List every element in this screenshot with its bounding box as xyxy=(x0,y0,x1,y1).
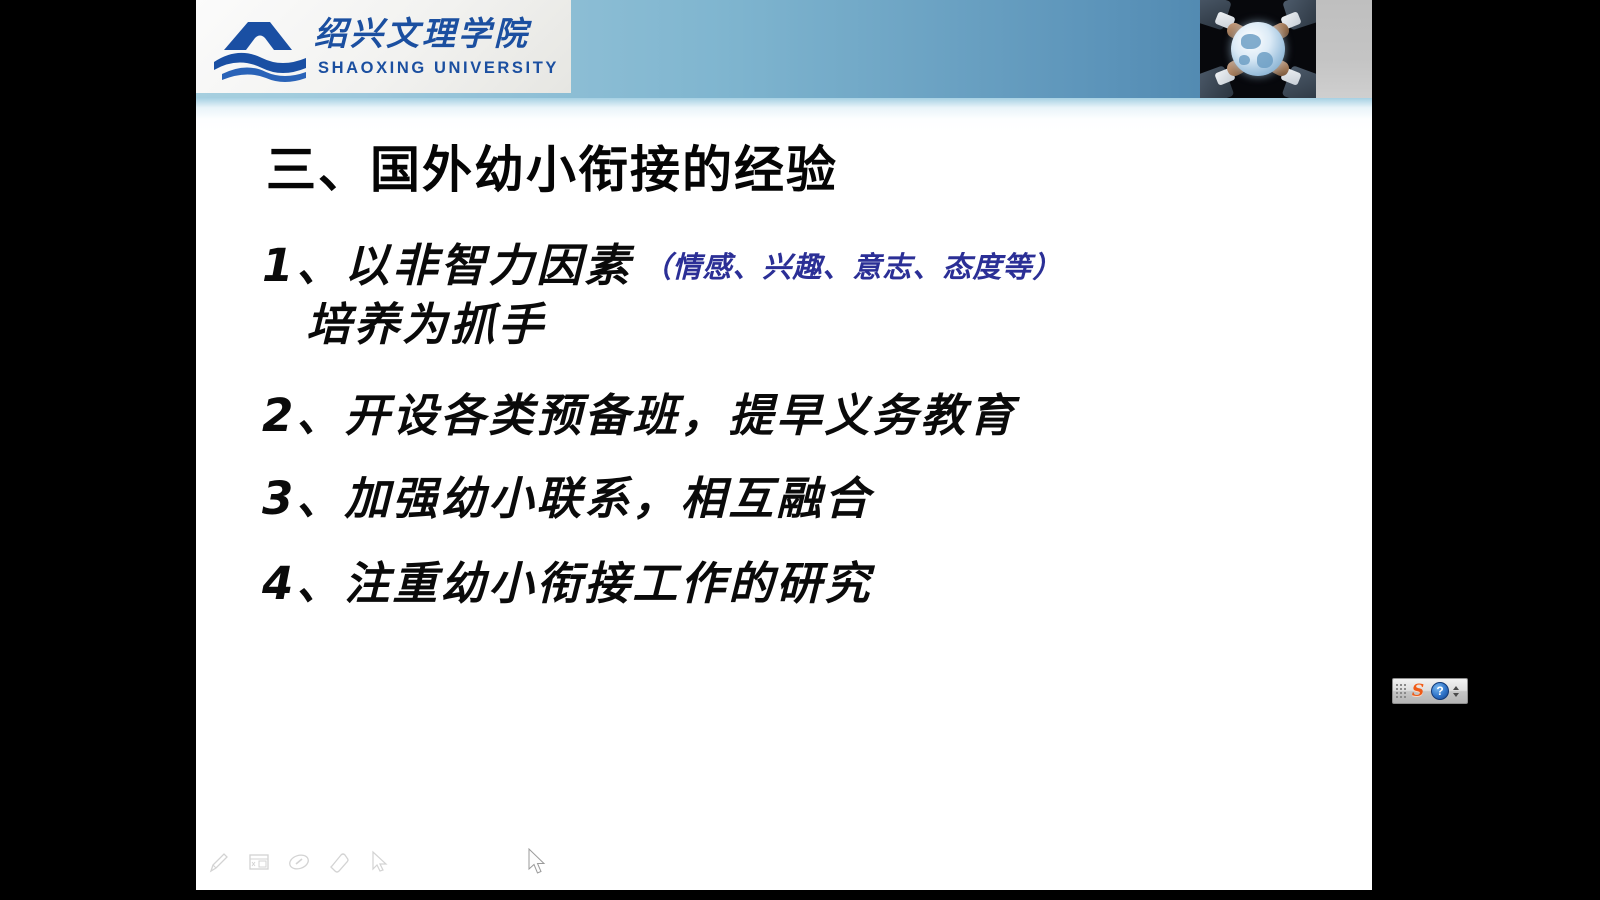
bullet-item-2: 2、开设各类预备班，提早义务教育 xyxy=(262,388,1016,444)
pointer-tool-button[interactable] xyxy=(366,849,392,875)
drag-grip-icon[interactable] xyxy=(1395,682,1407,700)
slide-title: 三、国外幼小衔接的经验 xyxy=(266,140,838,200)
bullet-item-1: 1、以非智力因素（情感、兴趣、意志、态度等） xyxy=(262,238,1062,295)
bullet-1-text: 以非智力因素 xyxy=(344,239,632,292)
globe-icon xyxy=(1231,22,1285,76)
banner-fade-strip xyxy=(196,98,1372,132)
pointer-arrow-icon xyxy=(366,849,392,875)
university-name-en: SHAOXING UNIVERSITY xyxy=(318,59,566,78)
slide-banner: 绍兴文理学院 SHAOXING UNIVERSITY xyxy=(196,0,1372,98)
more-arrows-icon[interactable] xyxy=(1451,681,1461,701)
bullet-2-text: 开设各类预备班，提早义务教育 xyxy=(344,389,1016,442)
banner-globe-photo xyxy=(1200,0,1316,98)
bullet-item-1-continuation: 培养为抓手 xyxy=(306,297,546,353)
mouse-pointer-icon xyxy=(528,848,548,876)
slide-thumbnail-button[interactable] xyxy=(246,849,272,875)
university-name-cn: 绍兴文理学院 xyxy=(314,8,564,60)
bullet-4-text: 注重幼小衔接工作的研究 xyxy=(344,557,872,610)
highlighter-icon xyxy=(286,849,312,875)
eraser-tool-button[interactable] xyxy=(326,849,352,875)
presentation-slide[interactable]: 绍兴文理学院 SHAOXING UNIVERSITY xyxy=(196,0,1372,890)
bullet-4-number: 4、 xyxy=(262,557,344,610)
banner-right-padding xyxy=(1316,0,1372,98)
bullet-1-note: （情感、兴趣、意志、态度等） xyxy=(642,250,1062,284)
shaoxing-university-mountain-wave-logo-icon xyxy=(208,12,312,82)
annotation-toolbar[interactable] xyxy=(206,845,392,879)
bullet-3-number: 3、 xyxy=(262,472,344,525)
bullet-item-3: 3、加强幼小联系，相互融合 xyxy=(262,471,872,527)
bullet-3-text: 加强幼小联系，相互融合 xyxy=(344,472,872,525)
screen: 绍兴文理学院 SHAOXING UNIVERSITY xyxy=(0,0,1600,900)
slide-thumbnail-icon xyxy=(246,849,272,875)
eraser-icon xyxy=(326,849,352,875)
pen-tool-button[interactable] xyxy=(206,849,232,875)
pen-icon xyxy=(206,849,232,875)
bullet-item-4: 4、注重幼小衔接工作的研究 xyxy=(262,556,872,612)
help-icon[interactable]: ? xyxy=(1431,682,1449,700)
sogou-ime-toolbar[interactable]: S ? xyxy=(1392,678,1468,704)
bullet-1-number: 1、 xyxy=(262,239,344,292)
university-logo-plate: 绍兴文理学院 SHAOXING UNIVERSITY xyxy=(196,0,571,93)
bullet-2-number: 2、 xyxy=(262,389,344,442)
sogou-ime-logo-icon[interactable]: S xyxy=(1408,681,1428,701)
highlighter-tool-button[interactable] xyxy=(286,849,312,875)
